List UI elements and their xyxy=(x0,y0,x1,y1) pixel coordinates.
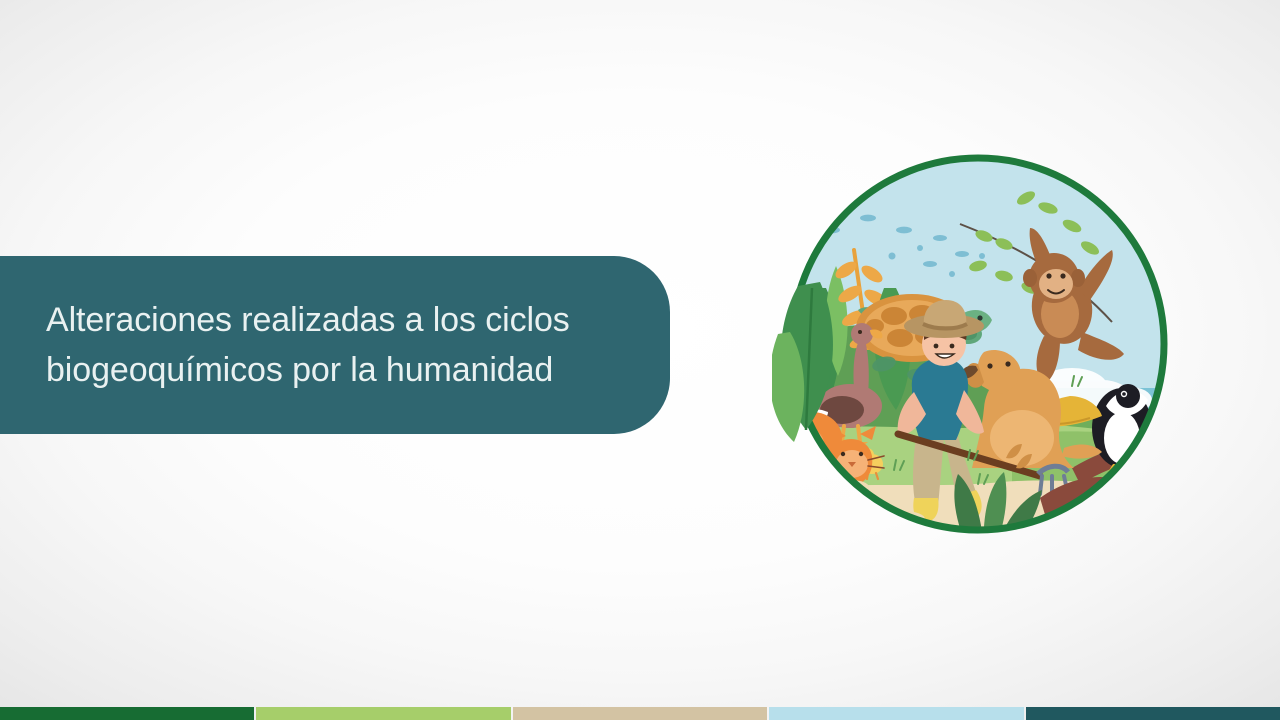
stripe-tan xyxy=(513,707,767,720)
page-title: Alteraciones realizadas a los ciclos bio… xyxy=(46,295,570,395)
bottom-color-stripes xyxy=(0,707,1280,720)
stripe-light-blue xyxy=(769,707,1023,720)
title-banner: Alteraciones realizadas a los ciclos bio… xyxy=(0,256,670,434)
nature-illustration xyxy=(772,138,1184,550)
stripe-dark-green xyxy=(0,707,254,720)
stripe-light-green xyxy=(256,707,510,720)
stripe-teal xyxy=(1026,707,1280,720)
slide-canvas: Alteraciones realizadas a los ciclos bio… xyxy=(0,0,1280,720)
